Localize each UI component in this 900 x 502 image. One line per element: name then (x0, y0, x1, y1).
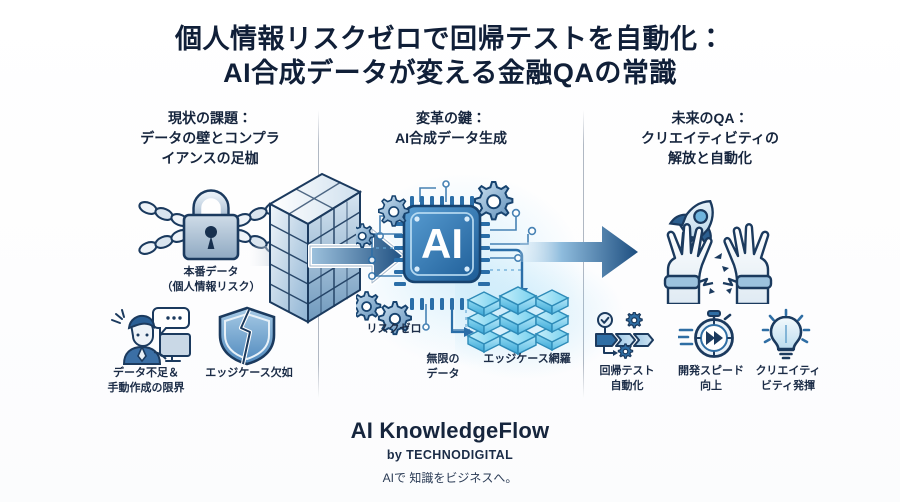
caption-infinite-data: 無限の データ (414, 352, 472, 382)
title-line-2: AI合成データが変える金融QAの常識 (0, 56, 900, 90)
frustrated-person-computer-icon (98, 304, 194, 366)
column-heading-key-to-change: 変革の鍵： AI合成データ生成 (340, 108, 562, 148)
heading-line: 現状の課題： (96, 108, 324, 128)
hands-breaking-free-rocket-icon (634, 192, 802, 304)
brand-tagline: AIで 知識をビジネスへ。 (0, 469, 900, 486)
footer-branding: AI KnowledgeFlow by TECHNODIGITAL AIで 知識… (0, 418, 900, 486)
heading-line: AI合成データ生成 (340, 128, 562, 148)
lightbulb-icon (758, 308, 814, 360)
heading-line: クリエイティビティの (596, 128, 824, 148)
column-heading-current-issues: 現状の課題： データの壁とコンプラ イアンスの足枷 (96, 108, 324, 168)
column-heading-future-qa: 未来のQA： クリエイティビティの 解放と自動化 (596, 108, 824, 168)
caption-dev-speed: 開発スピード 向上 (672, 364, 750, 394)
heading-line: 解放と自動化 (596, 148, 824, 168)
brand-name: AI KnowledgeFlow (0, 418, 900, 444)
ai-chip-label: AI (421, 220, 463, 267)
arrow-outcome-icon (520, 224, 640, 280)
brand-byline: by TECHNODIGITAL (0, 448, 900, 462)
caption-regression-automation: 回帰テスト 自動化 (588, 364, 666, 394)
heading-line: 未来のQA： (596, 108, 824, 128)
caption-creativity: クリエイティ ビティ発揮 (748, 364, 828, 394)
heading-line: イアンスの足枷 (96, 148, 324, 168)
workflow-pipeline-icon (594, 312, 660, 360)
caption-edge-case-coverage: エッジケース網羅 (468, 352, 586, 367)
infographic-canvas: 個人情報リスクゼロで回帰テストを自動化： AI合成データが変える金融QAの常識 … (0, 0, 900, 502)
title-line-1: 個人情報リスクゼロで回帰テストを自動化： (175, 24, 725, 54)
caption-zero-risk: リスクゼロ (348, 322, 440, 337)
page-title: 個人情報リスクゼロで回帰テストを自動化： AI合成データが変える金融QAの常識 (0, 22, 900, 90)
broken-handcuff-left (665, 276, 699, 288)
stopwatch-fastforward-icon (678, 310, 740, 360)
broken-handcuff-right (737, 276, 771, 288)
heading-line: 変革の鍵： (340, 108, 562, 128)
server-stack-icon (468, 287, 568, 354)
heading-line: データの壁とコンプラ (96, 128, 324, 148)
caption-data-shortage: データ不足＆ 手動作成の限界 (92, 366, 200, 396)
caption-edge-case-gap: エッジケース欠如 (194, 366, 304, 381)
